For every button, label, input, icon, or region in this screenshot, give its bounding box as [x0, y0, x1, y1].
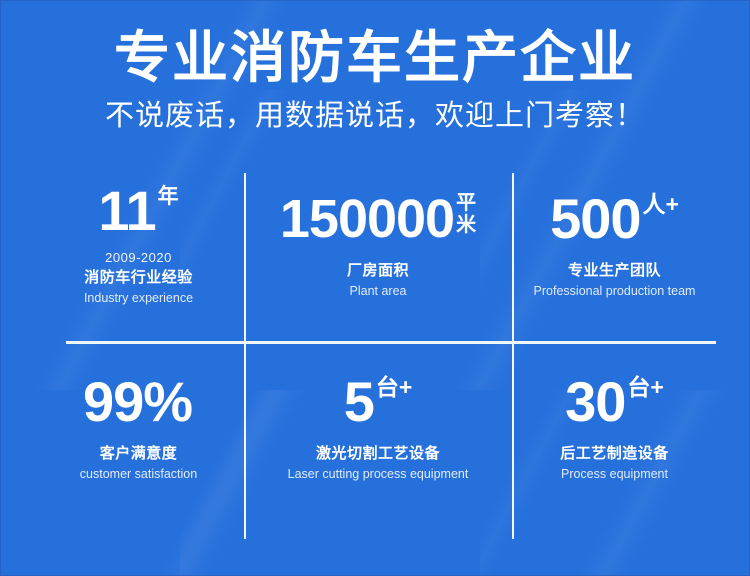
page-title: 专业消防车生产企业: [0, 26, 750, 90]
stat-caption-zh: 厂房面积: [347, 261, 409, 280]
stat-number-line: 5 台+: [344, 374, 413, 430]
stat-cell-plant-area: 150000 平 米 厂房面积 Plant area: [244, 153, 512, 336]
promo-poster: 专业消防车生产企业 不说废话，用数据说话，欢迎上门考察！ 11 年 2009-2…: [0, 0, 750, 576]
grid-divider-vertical-right: [512, 173, 514, 539]
stat-number-line: 500 人+: [550, 191, 679, 247]
stat-year-range: 2009-2020: [105, 250, 172, 266]
stat-number: 30: [565, 374, 625, 430]
stat-caption-en: customer satisfaction: [80, 466, 197, 482]
stat-cell-process-equipment: 30 台+ 后工艺制造设备 Process equipment: [512, 336, 717, 519]
stat-number-line: 11 年: [98, 183, 178, 239]
stat-caption-zh: 专业生产团队: [568, 261, 661, 280]
stat-number-line: 30 台+: [565, 374, 664, 430]
grid-divider-horizontal: [66, 341, 716, 344]
stat-number-line: 99%: [83, 374, 194, 430]
stat-caption-zh: 消防车行业经验: [84, 268, 193, 287]
stat-unit: 年: [158, 186, 179, 207]
stat-number: 500: [550, 191, 640, 247]
page-subtitle: 不说废话，用数据说话，欢迎上门考察！: [0, 98, 750, 134]
stat-cell-production-team: 500 人+ 专业生产团队 Professional production te…: [512, 153, 717, 336]
stat-caption-zh: 客户满意度: [100, 444, 178, 463]
stat-unit: 平 米: [456, 192, 476, 236]
stat-number: 99%: [83, 374, 192, 430]
stat-number: 150000: [280, 191, 454, 247]
stat-unit-line-1: 平: [456, 192, 476, 214]
stat-number: 5: [344, 374, 374, 430]
stats-row-bottom: 99% 客户满意度 customer satisfaction 5 台+ 激光切…: [33, 336, 717, 519]
stat-caption-en: Professional production team: [534, 283, 696, 299]
stat-caption-zh: 后工艺制造设备: [560, 444, 669, 463]
stat-unit: 人+: [643, 194, 679, 215]
stat-unit: 台+: [627, 377, 663, 398]
stats-row-top: 11 年 2009-2020 消防车行业经验 Industry experien…: [33, 153, 717, 336]
stat-cell-laser-cutting-equipment: 5 台+ 激光切割工艺设备 Laser cutting process equi…: [244, 336, 512, 519]
stat-caption-en: Process equipment: [561, 466, 668, 482]
stats-grid: 11 年 2009-2020 消防车行业经验 Industry experien…: [33, 153, 717, 519]
stat-unit: 台+: [376, 377, 412, 398]
stat-caption-en: Laser cutting process equipment: [288, 466, 469, 482]
stat-unit-line-2: 米: [456, 214, 476, 236]
stat-caption-zh: 激光切割工艺设备: [316, 444, 440, 463]
stat-number-line: 150000 平 米: [280, 191, 476, 247]
stat-caption-en: Industry experience: [84, 290, 193, 306]
poster-header: 专业消防车生产企业 不说废话，用数据说话，欢迎上门考察！: [0, 0, 750, 134]
stat-cell-industry-experience: 11 年 2009-2020 消防车行业经验 Industry experien…: [33, 153, 244, 336]
stat-caption-en: Plant area: [350, 283, 407, 299]
stat-cell-customer-satisfaction: 99% 客户满意度 customer satisfaction: [33, 336, 244, 519]
stat-number: 11: [98, 183, 155, 239]
grid-divider-vertical-left: [244, 173, 246, 539]
